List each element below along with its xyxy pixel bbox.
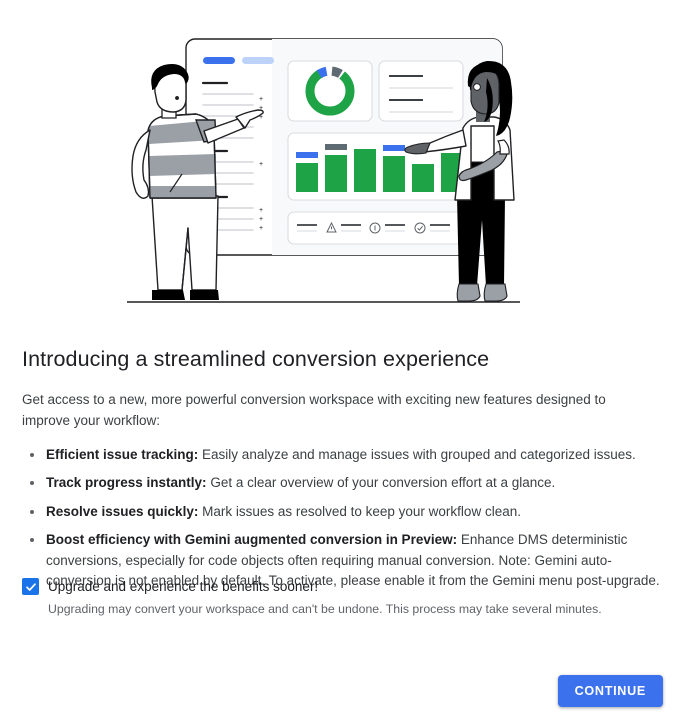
- hero-illustration: + + + + + + +: [0, 0, 684, 330]
- upgrade-dialog: + + + + + + +: [0, 0, 684, 723]
- bullet-icon: [30, 481, 34, 485]
- upgrade-consent-row[interactable]: Upgrade and experience the benefits soon…: [22, 577, 662, 618]
- benefit-text: Mark issues as resolved to keep your wor…: [198, 504, 521, 519]
- benefit-text: Get a clear overview of your conversion …: [207, 475, 556, 490]
- bullet-icon: [30, 453, 34, 457]
- list-item: Resolve issues quickly: Mark issues as r…: [44, 502, 662, 522]
- checkbox-sublabel: Upgrading may convert your workspace and…: [48, 600, 602, 618]
- donut-chart-card: [288, 61, 372, 121]
- dialog-content: Introducing a streamlined conversion exp…: [22, 345, 662, 591]
- intro-paragraph: Get access to a new, more powerful conve…: [22, 389, 644, 431]
- benefit-title: Resolve issues quickly:: [46, 504, 198, 519]
- benefit-text: Easily analyze and manage issues with gr…: [198, 447, 636, 462]
- sidebar-expand-markers: + + + + + + +: [259, 96, 263, 232]
- svg-text:+: +: [259, 216, 263, 223]
- list-item: Efficient issue tracking: Easily analyze…: [44, 445, 662, 465]
- summary-text-card: [379, 61, 463, 121]
- benefit-title: Boost efficiency with Gemini augmented c…: [46, 532, 457, 547]
- svg-text:+: +: [259, 207, 263, 214]
- benefits-list: Efficient issue tracking: Easily analyze…: [22, 445, 662, 591]
- check-icon: [25, 581, 37, 593]
- list-item: Track progress instantly: Get a clear ov…: [44, 473, 662, 493]
- checkbox-label[interactable]: Upgrade and experience the benefits soon…: [48, 577, 602, 596]
- svg-text:+: +: [259, 225, 263, 232]
- benefit-title: Track progress instantly:: [46, 475, 207, 490]
- upgrade-checkbox[interactable]: [22, 578, 39, 595]
- dialog-footer: CONTINUE: [0, 660, 684, 723]
- bullet-icon: [30, 538, 34, 542]
- checkbox-texts: Upgrade and experience the benefits soon…: [48, 577, 602, 618]
- page-title: Introducing a streamlined conversion exp…: [22, 345, 662, 373]
- continue-button[interactable]: CONTINUE: [558, 675, 663, 707]
- benefit-title: Efficient issue tracking:: [46, 447, 198, 462]
- status-bar-card: [288, 212, 463, 244]
- bullet-icon: [30, 510, 34, 514]
- svg-text:+: +: [259, 161, 263, 168]
- svg-text:+: +: [259, 96, 263, 103]
